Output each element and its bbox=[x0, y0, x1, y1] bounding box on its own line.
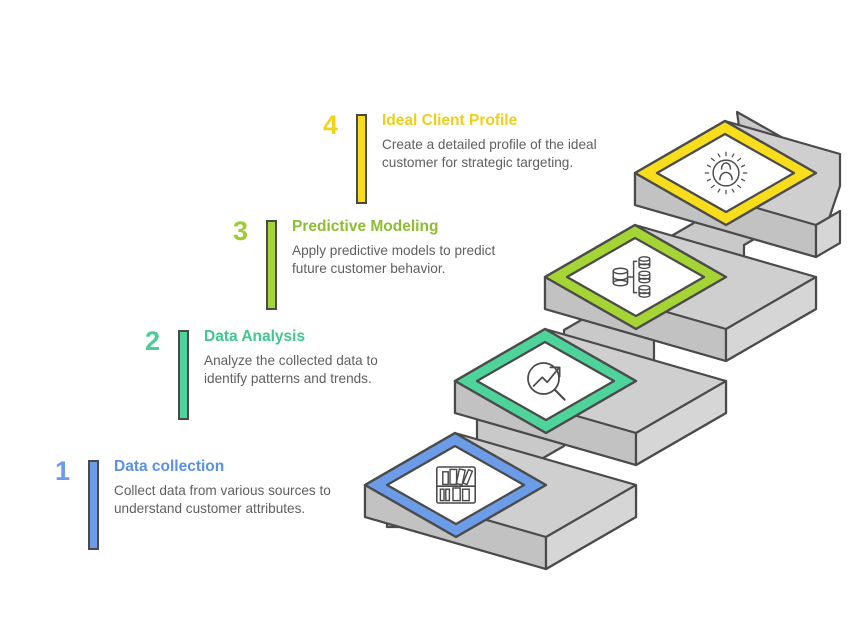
step-3-accent-bar bbox=[266, 220, 277, 310]
infographic-canvas: 4 Ideal Client Profile Create a detailed… bbox=[0, 0, 852, 630]
step-2-description: Analyze the collected data to identify p… bbox=[204, 352, 404, 388]
step-4-description: Create a detailed profile of the ideal c… bbox=[382, 136, 622, 172]
step-3-title: Predictive Modeling bbox=[292, 218, 524, 237]
step-4-number: 4 bbox=[296, 112, 338, 139]
step-2-title: Data Analysis bbox=[204, 328, 404, 347]
step-2-text-block: 2 Data Analysis Analyze the collected da… bbox=[118, 328, 404, 420]
step-4-text-block: 4 Ideal Client Profile Create a detailed… bbox=[296, 112, 622, 204]
step-1-number: 1 bbox=[28, 458, 70, 485]
step-4-accent-bar bbox=[356, 114, 367, 204]
step-1-description: Collect data from various sources to und… bbox=[114, 482, 354, 518]
step-1-text-block: 1 Data collection Collect data from vari… bbox=[28, 458, 354, 550]
step-3-description: Apply predictive models to predict futur… bbox=[292, 242, 524, 278]
step-1-title: Data collection bbox=[114, 458, 354, 477]
step-3-number: 3 bbox=[206, 218, 248, 245]
step-2-accent-bar bbox=[178, 330, 189, 420]
step-3-text-block: 3 Predictive Modeling Apply predictive m… bbox=[206, 218, 524, 310]
step-1-accent-bar bbox=[88, 460, 99, 550]
step-4-title: Ideal Client Profile bbox=[382, 112, 622, 131]
step-2-number: 2 bbox=[118, 328, 160, 355]
